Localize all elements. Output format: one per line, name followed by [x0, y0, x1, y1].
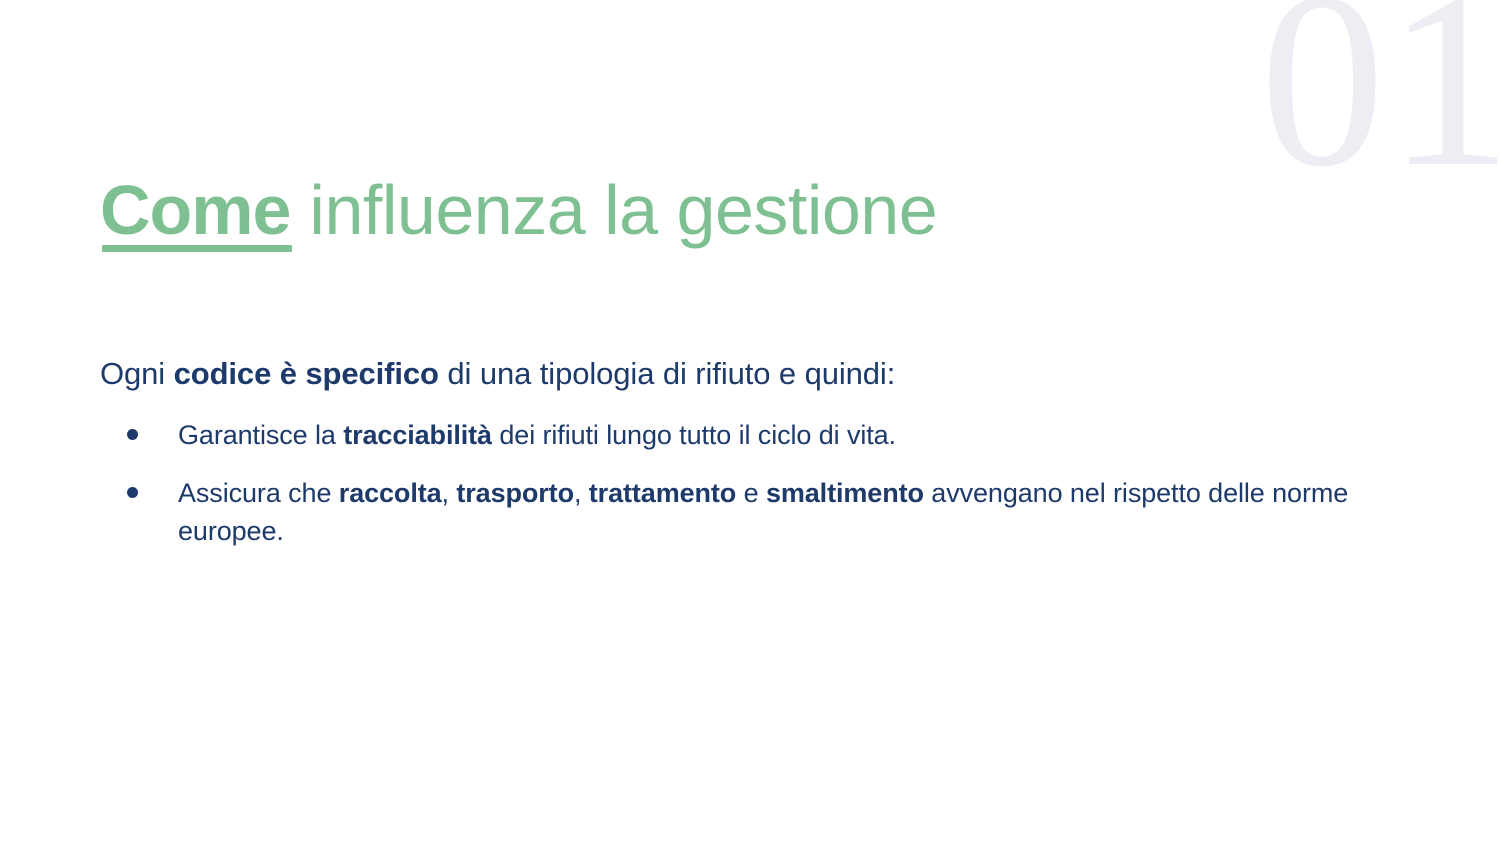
list-item-text: Garantisce la tracciabilità dei rifiuti … — [178, 416, 896, 454]
bullet-dot-icon — [127, 429, 138, 440]
page-title: Come influenza la gestione — [100, 173, 1300, 249]
title-accent-word: Come — [100, 173, 290, 249]
list-item-text: Assicura che raccolta, trasporto, tratta… — [178, 474, 1388, 551]
list-item: Garantisce la tracciabilità dei rifiuti … — [100, 416, 1420, 454]
title-rest-text: influenza la gestione — [290, 171, 937, 249]
body-block: Ogni codice è specifico di una tipologia… — [100, 354, 1420, 550]
slide-canvas: 01 Come influenza la gestione Ogni codic… — [0, 0, 1500, 844]
intro-paragraph: Ogni codice è specifico di una tipologia… — [100, 354, 1420, 394]
bullet-dot-icon — [127, 487, 138, 498]
title-block: Come influenza la gestione — [100, 126, 1300, 295]
bullet-list: Garantisce la tracciabilità dei rifiuti … — [100, 416, 1420, 550]
list-item: Assicura che raccolta, trasporto, tratta… — [100, 474, 1420, 551]
